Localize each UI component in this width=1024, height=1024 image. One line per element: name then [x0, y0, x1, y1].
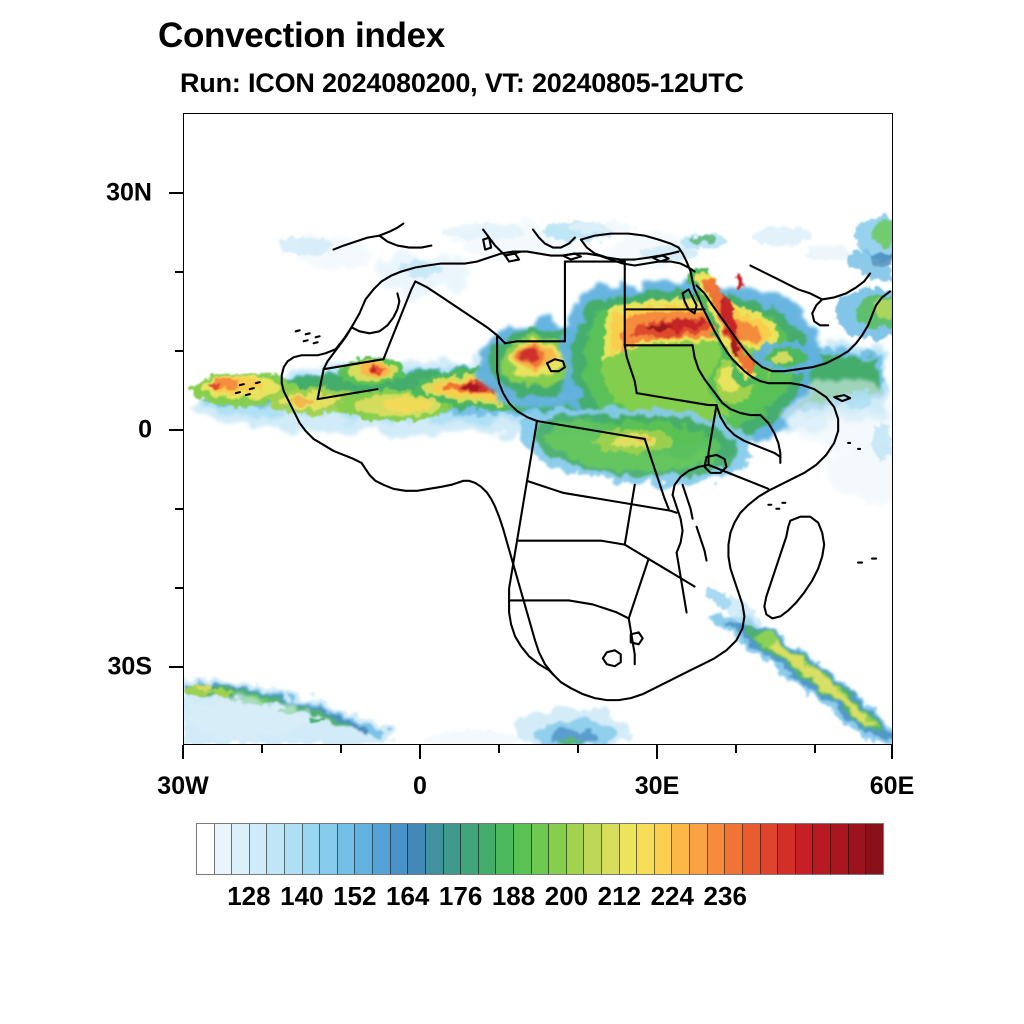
colorbar-label: 128: [227, 883, 270, 909]
y-axis-label-0: 0: [62, 418, 152, 443]
colorbar-label: 164: [386, 883, 429, 909]
colorbar-label: 200: [545, 883, 588, 909]
y-tick-minor-10S: [175, 508, 183, 510]
x-axis-label-30W: 30W: [157, 774, 208, 799]
colorbar-label: 152: [333, 883, 376, 909]
colorbar-segment: [338, 824, 356, 874]
colorbar-label: 212: [598, 883, 641, 909]
colorbar-segment: [708, 824, 726, 874]
colorbar-segment: [320, 824, 338, 874]
x-tick-major-60E: [891, 745, 893, 759]
colorbar-label: 176: [439, 883, 482, 909]
x-tick-minor-10W: [340, 745, 342, 753]
y-tick-minor-20N: [175, 271, 183, 273]
colorbar-segment: [567, 824, 585, 874]
x-tick-minor-20E: [577, 745, 579, 753]
colorbar-segment: [725, 824, 743, 874]
weather-map-figure: Convection index Run: ICON 2024080200, V…: [0, 0, 1024, 1024]
colorbar-label: 140: [280, 883, 323, 909]
colorbar-segment: [743, 824, 761, 874]
y-tick-major-0: [169, 429, 183, 431]
colorbar-segment: [250, 824, 268, 874]
colorbar-segment: [285, 824, 303, 874]
x-tick-minor-10E: [498, 745, 500, 753]
colorbar-segment: [303, 824, 321, 874]
colorbar-segment: [532, 824, 550, 874]
colorbar-label: 236: [704, 883, 747, 909]
colorbar-segment: [778, 824, 796, 874]
colorbar-segment: [496, 824, 514, 874]
map-canvas: [184, 114, 892, 744]
x-axis-label-30E: 30E: [635, 774, 679, 799]
y-axis-label-30S: 30S: [62, 655, 152, 680]
colorbar-segment: [672, 824, 690, 874]
colorbar-segment: [637, 824, 655, 874]
colorbar: [196, 823, 884, 875]
x-tick-minor-40E: [735, 745, 737, 753]
x-axis-label-60E: 60E: [870, 774, 914, 799]
map-plot-area: [183, 113, 893, 745]
y-tick-major-30N: [169, 192, 183, 194]
colorbar-segment: [584, 824, 602, 874]
colorbar-segment: [831, 824, 849, 874]
colorbar-segment: [620, 824, 638, 874]
y-axis-label-30N: 30N: [62, 181, 152, 206]
page-title: Convection index: [158, 18, 445, 53]
colorbar-label: 188: [492, 883, 535, 909]
colorbar-segment: [479, 824, 497, 874]
colorbar-label: 224: [651, 883, 694, 909]
y-tick-minor-20S: [175, 587, 183, 589]
colorbar-segment: [444, 824, 462, 874]
colorbar-segment: [373, 824, 391, 874]
colorbar-segment: [197, 824, 215, 874]
colorbar-segment: [866, 824, 883, 874]
y-tick-minor-10N: [175, 350, 183, 352]
colorbar-segment: [813, 824, 831, 874]
x-axis-label-0: 0: [413, 774, 427, 799]
colorbar-segment: [215, 824, 233, 874]
colorbar-segment: [690, 824, 708, 874]
colorbar-segment: [232, 824, 250, 874]
x-tick-major-30W: [182, 745, 184, 759]
colorbar-segment: [549, 824, 567, 874]
x-tick-minor-20W: [261, 745, 263, 753]
colorbar-segment: [408, 824, 426, 874]
page-subtitle: Run: ICON 2024080200, VT: 20240805-12UTC: [180, 70, 744, 97]
colorbar-segment: [849, 824, 867, 874]
x-tick-major-30E: [656, 745, 658, 759]
colorbar-segments: [196, 823, 884, 875]
y-tick-major-30S: [169, 666, 183, 668]
colorbar-segment: [426, 824, 444, 874]
colorbar-segment: [796, 824, 814, 874]
colorbar-segment: [391, 824, 409, 874]
colorbar-segment: [514, 824, 532, 874]
colorbar-segment: [461, 824, 479, 874]
x-tick-major-0: [419, 745, 421, 759]
colorbar-segment: [602, 824, 620, 874]
colorbar-segment: [355, 824, 373, 874]
colorbar-segment: [267, 824, 285, 874]
x-tick-minor-50E: [814, 745, 816, 753]
colorbar-segment: [761, 824, 779, 874]
colorbar-segment: [655, 824, 673, 874]
